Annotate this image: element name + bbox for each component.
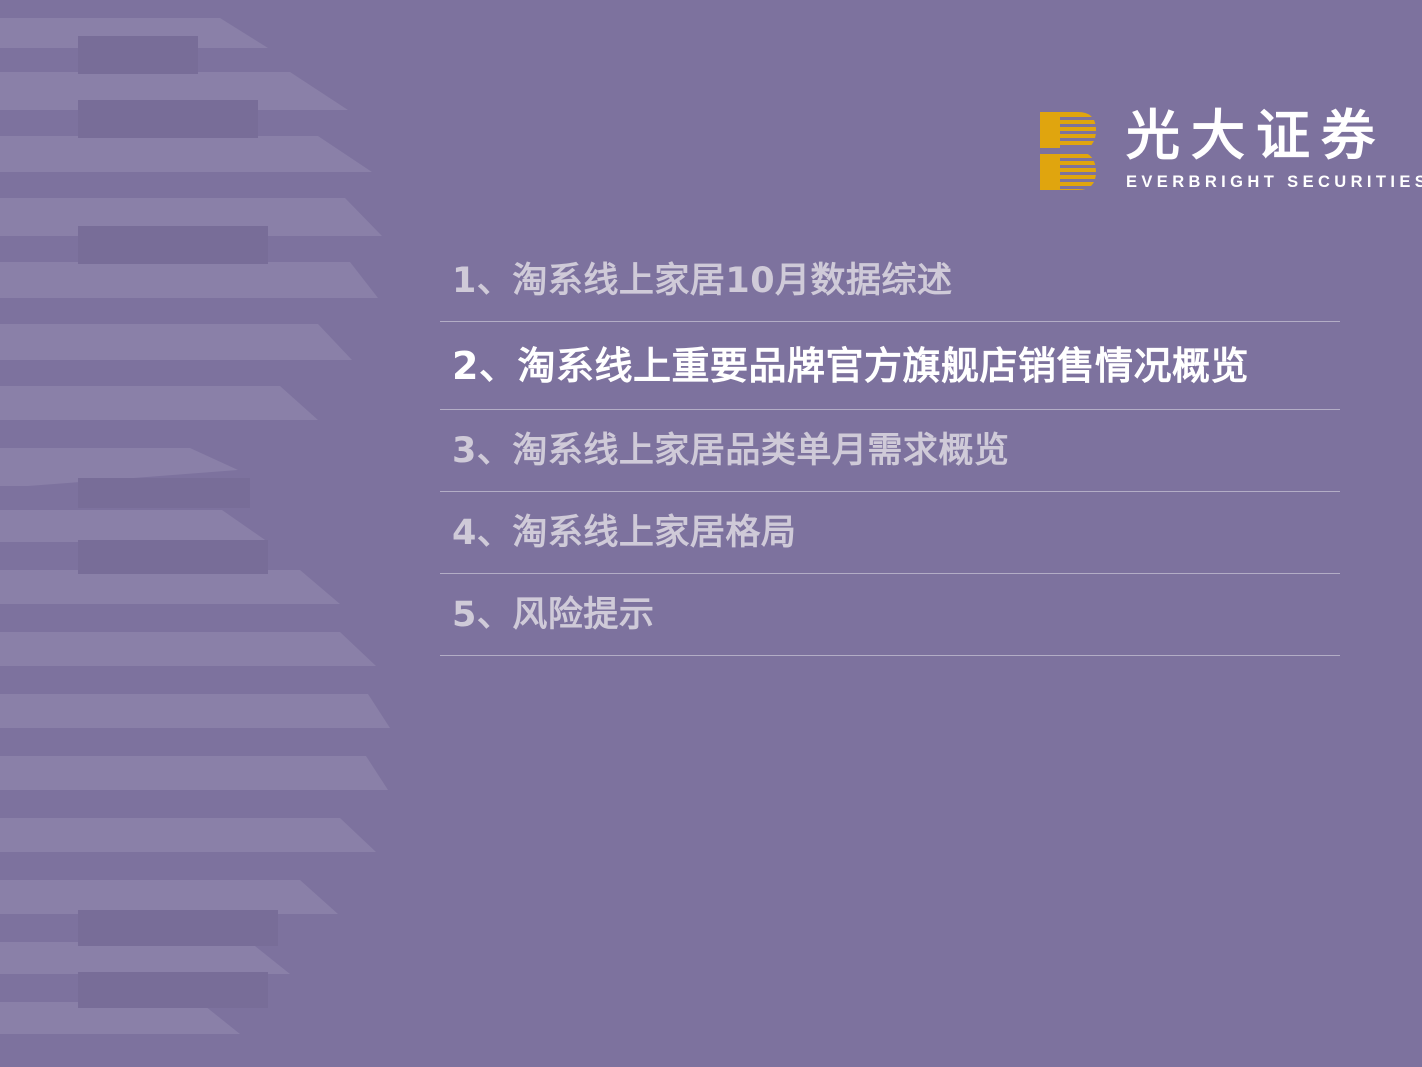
agenda-item-5-label: 5、风险提示 [440, 586, 654, 637]
agenda-item-3-label: 3、淘系线上家居品类单月需求概览 [440, 422, 1009, 473]
brand-logo-text: 光大证券 EVERBRIGHT SECURITIES [1126, 108, 1422, 192]
agenda-item-1-label: 1、淘系线上家居10月数据综述 [440, 252, 953, 303]
agenda-item-3[interactable]: 3、淘系线上家居品类单月需求概览 [440, 410, 1340, 492]
agenda-item-4[interactable]: 4、淘系线上家居格局 [440, 492, 1340, 574]
presentation-slide: 光大证券 EVERBRIGHT SECURITIES 1、淘系线上家居10月数据… [0, 0, 1422, 1067]
everbright-b-mark-icon [1038, 110, 1098, 192]
agenda-item-1[interactable]: 1、淘系线上家居10月数据综述 [440, 240, 1340, 322]
agenda-item-2[interactable]: 2、淘系线上重要品牌官方旗舰店销售情况概览 [440, 322, 1340, 410]
brand-name-en: EVERBRIGHT SECURITIES [1126, 173, 1422, 192]
brand-name-cn: 光大证券 [1126, 108, 1386, 162]
agenda-item-4-label: 4、淘系线上家居格局 [440, 504, 796, 555]
agenda-item-2-label: 2、淘系线上重要品牌官方旗舰店销售情况概览 [440, 335, 1249, 390]
agenda-item-5[interactable]: 5、风险提示 [440, 574, 1340, 656]
brand-logo: 光大证券 EVERBRIGHT SECURITIES [1038, 108, 1422, 192]
agenda-list: 1、淘系线上家居10月数据综述 2、淘系线上重要品牌官方旗舰店销售情况概览 3、… [440, 240, 1340, 656]
everbright-watermark-decoration [0, 0, 440, 1067]
